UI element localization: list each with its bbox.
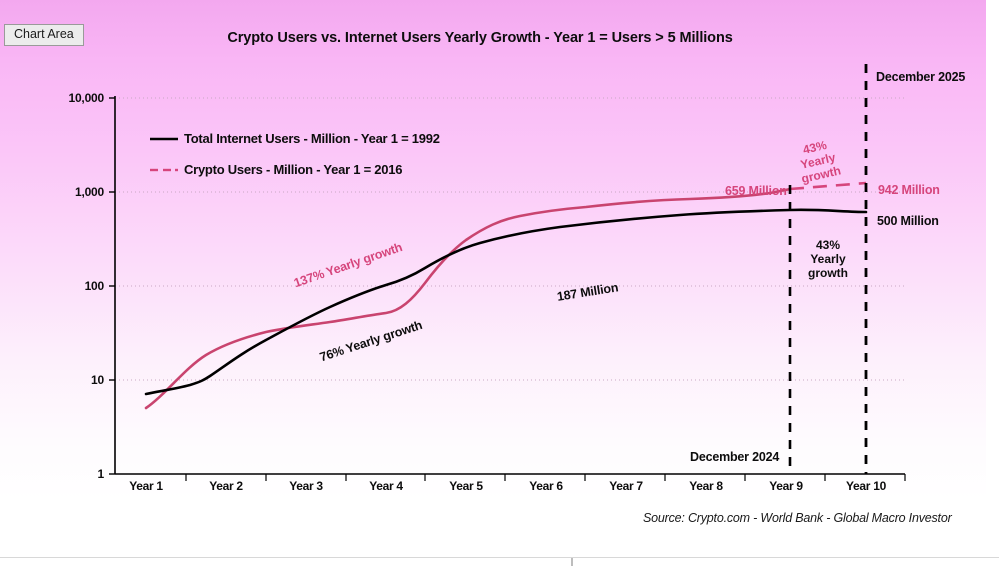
x-axis-tick-year-5: Year 5 bbox=[426, 479, 506, 493]
right-margin bbox=[986, 0, 999, 566]
x-axis-tick-year-4: Year 4 bbox=[346, 479, 426, 493]
chart-axes bbox=[115, 96, 905, 474]
x-axis-tick-year-6: Year 6 bbox=[506, 479, 586, 493]
marker-label-december-2024: December 2024 bbox=[690, 450, 779, 464]
x-axis-tick-year-10: Year 10 bbox=[826, 479, 906, 493]
y-axis-tick-10: 10 bbox=[28, 373, 104, 387]
y-axis-ticks bbox=[109, 98, 115, 474]
bottom-scroll-tick bbox=[571, 558, 573, 566]
x-axis-tick-year-3: Year 3 bbox=[266, 479, 346, 493]
chart-title: Crypto Users vs. Internet Users Yearly G… bbox=[0, 30, 960, 46]
source-note: Source: Crypto.com - World Bank - Global… bbox=[643, 511, 952, 525]
annotation-internet-late-growth-line3: growth bbox=[808, 266, 848, 280]
bottom-divider bbox=[0, 557, 999, 558]
annotation-crypto-942-million: 942 Million bbox=[878, 183, 940, 197]
annotation-internet-late-growth-line1: 43% bbox=[808, 238, 848, 252]
y-axis-tick-100: 100 bbox=[28, 279, 104, 293]
y-axis-tick-10000: 10,000 bbox=[28, 91, 104, 105]
x-axis-tick-year-2: Year 2 bbox=[186, 479, 266, 493]
y-axis-tick-1000: 1,000 bbox=[28, 185, 104, 199]
series-line-internet-users bbox=[146, 210, 866, 394]
marker-label-december-2025: December 2025 bbox=[876, 70, 965, 84]
annotation-crypto-659-million: 659 Million bbox=[725, 184, 787, 198]
y-axis-tick-1: 1 bbox=[28, 467, 104, 481]
series-line-crypto-users bbox=[146, 189, 790, 408]
annotation-internet-late-growth-line2: Yearly bbox=[808, 252, 848, 266]
legend-label-crypto-users: Crypto Users - Million - Year 1 = 2016 bbox=[184, 162, 402, 177]
annotation-internet-late-growth: 43% Yearly growth bbox=[808, 238, 848, 280]
legend-label-internet-users: Total Internet Users - Million - Year 1 … bbox=[184, 131, 440, 146]
x-axis-tick-year-8: Year 8 bbox=[666, 479, 746, 493]
x-axis-tick-year-9: Year 9 bbox=[746, 479, 826, 493]
x-axis-tick-year-1: Year 1 bbox=[106, 479, 186, 493]
series-line-crypto-users-projection bbox=[790, 183, 866, 189]
chart-screenshot: Chart Area Crypto Users vs. Internet Use… bbox=[0, 0, 999, 566]
annotation-internet-500-million: 500 Million bbox=[877, 214, 939, 228]
x-axis-tick-year-7: Year 7 bbox=[586, 479, 666, 493]
